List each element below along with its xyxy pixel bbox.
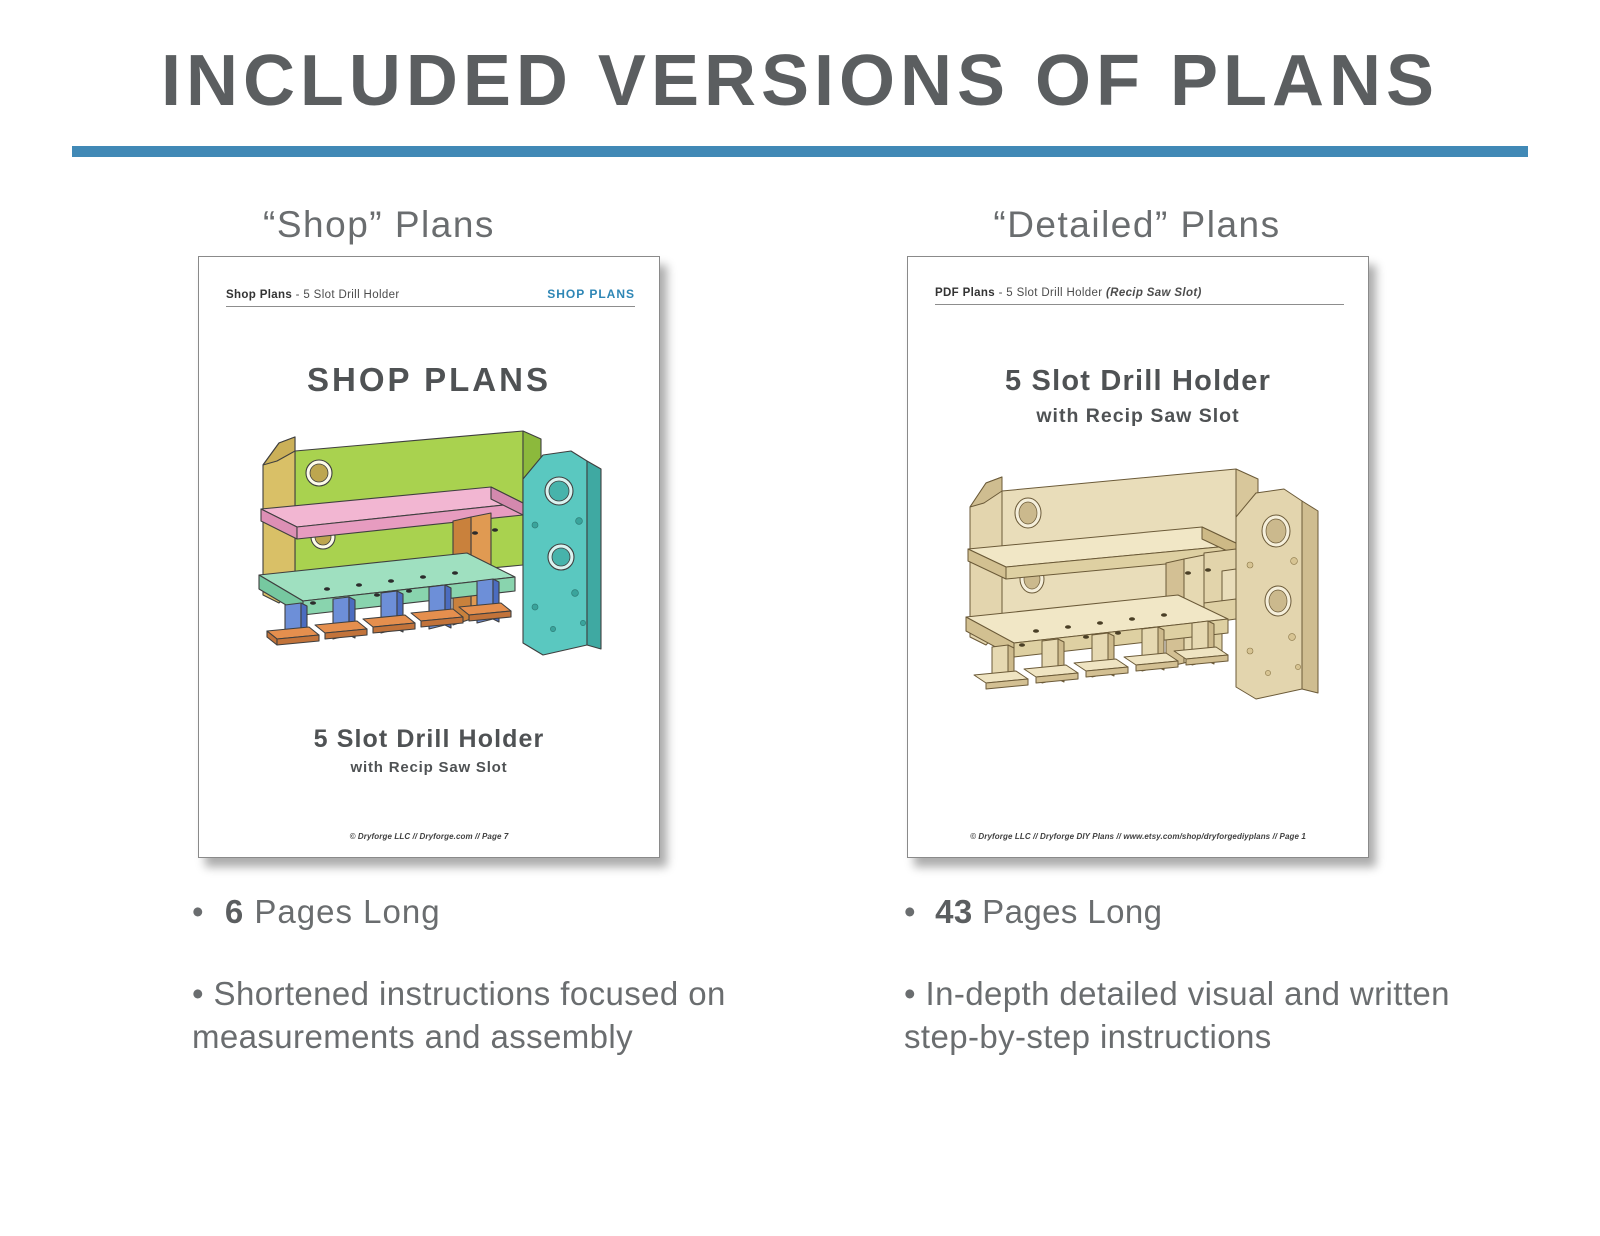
doc-header-badge-shop: SHOP PLANS: [547, 287, 635, 301]
bullet-text: Shortened instructions focused on measur…: [192, 975, 726, 1056]
doc-footer-shop: © Dryforge LLC // Dryforge.com // Page 7: [199, 832, 659, 841]
bullet-text: Pages Long: [973, 893, 1163, 930]
doc-title-line2-detailed: with Recip Saw Slot: [908, 405, 1368, 428]
doc-header-italic-detailed: (Recip Saw Slot): [1106, 287, 1202, 299]
colored-drill-holder-illustration: [223, 417, 637, 657]
column-heading-shop: “Shop” Plans: [108, 204, 748, 256]
title-underline-rule: [72, 146, 1528, 157]
plywood-drill-holder-illustration: [936, 453, 1342, 713]
bullet-item: • 43 Pages Long: [904, 890, 1492, 934]
bullet-list-detailed: • 43 Pages Long • In-depth detailed visu…: [852, 890, 1492, 1059]
doc-title-shop-plans: SHOP PLANS: [199, 361, 659, 399]
bullet-strong-page-count: 43: [935, 893, 973, 930]
column-shop-plans: “Shop” Plans Shop Plans - 5 Slot Drill H…: [108, 204, 748, 1097]
bullet-item: • 6 Pages Long: [192, 890, 748, 934]
bullet-list-shop: • 6 Pages Long • Shortened instructions …: [108, 890, 748, 1059]
doc-header-title-detailed: PDF Plans - 5 Slot Drill Holder (Recip S…: [935, 287, 1202, 299]
doc-bottom-title-line1-shop: 5 Slot Drill Holder: [199, 725, 659, 754]
doc-header-title-shop: Shop Plans - 5 Slot Drill Holder: [226, 289, 400, 301]
doc-title-line1-detailed: 5 Slot Drill Holder: [908, 365, 1368, 398]
bullet-item: • In-depth detailed visual and written s…: [904, 972, 1492, 1059]
doc-header-rest-shop: - 5 Slot Drill Holder: [292, 289, 399, 301]
doc-footer-detailed: © Dryforge LLC // Dryforge DIY Plans // …: [908, 832, 1368, 841]
bullet-text: Pages Long: [244, 893, 440, 930]
doc-header-rest-detailed: - 5 Slot Drill Holder: [995, 287, 1106, 299]
doc-header-bold-shop: Shop Plans: [226, 289, 292, 301]
doc-header-detailed: PDF Plans - 5 Slot Drill Holder (Recip S…: [935, 287, 1344, 305]
column-detailed-plans: “Detailed” Plans PDF Plans - 5 Slot Dril…: [852, 204, 1492, 1097]
page-title: INCLUDED VERSIONS OF PLANS: [0, 44, 1600, 120]
document-preview-shop-plans[interactable]: Shop Plans - 5 Slot Drill Holder SHOP PL…: [198, 256, 660, 858]
column-heading-detailed: “Detailed” Plans: [852, 204, 1492, 256]
bullet-text: In-depth detailed visual and written ste…: [904, 975, 1450, 1056]
doc-bottom-title-line2-shop: with Recip Saw Slot: [199, 759, 659, 776]
bullet-strong-page-count: 6: [225, 893, 244, 930]
doc-header-shop: Shop Plans - 5 Slot Drill Holder SHOP PL…: [226, 287, 635, 307]
document-preview-detailed-plans[interactable]: PDF Plans - 5 Slot Drill Holder (Recip S…: [907, 256, 1369, 858]
doc-header-bold-detailed: PDF Plans: [935, 287, 995, 299]
bullet-item: • Shortened instructions focused on meas…: [192, 972, 748, 1059]
